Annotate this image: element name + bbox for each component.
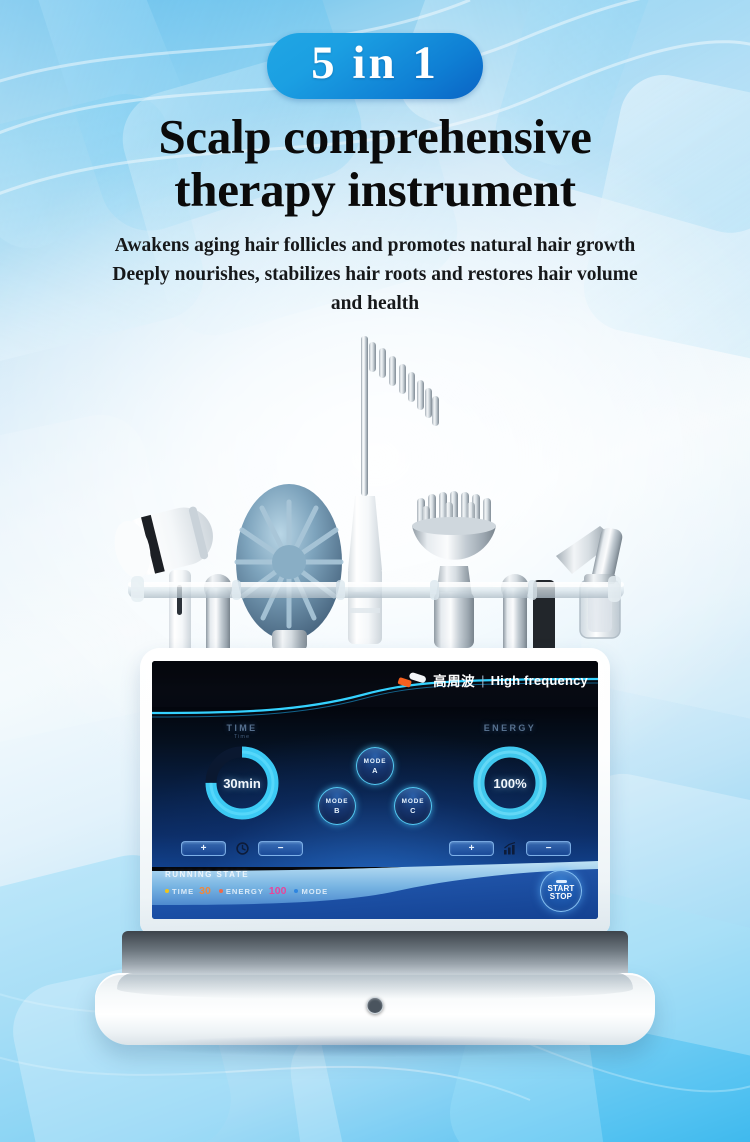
monitor-housing: MAIN WINDOW 高周波 | High frequency TIME Ti… (140, 648, 610, 935)
badge-label: 5 in 1 (311, 37, 439, 90)
stat-time-dot (165, 889, 169, 893)
running-state-stats: TIME 30 ENERGY 100 MODE (165, 885, 328, 897)
stat-mode: MODE (294, 887, 328, 896)
energy-adjust-row: + − (449, 841, 571, 856)
mode-button-group: MODE A MODE B MODE C (310, 747, 440, 831)
time-label: TIME (184, 723, 300, 733)
time-value: 30min (203, 744, 281, 822)
five-in-one-badge: 5 in 1 (267, 33, 483, 99)
time-dial[interactable]: 30min (203, 744, 281, 822)
energy-increase-button[interactable]: + (449, 841, 494, 856)
energy-dial[interactable]: 100% (471, 744, 549, 822)
power-indicator[interactable] (367, 997, 384, 1014)
micro-needle-bowl-head (412, 491, 496, 648)
signal-bars-glyph (503, 842, 517, 855)
time-sublabel: Time (184, 734, 300, 740)
signal-bars-icon (503, 842, 517, 856)
handpieces-illustration (0, 330, 750, 675)
headline-line-2: therapy instrument (0, 164, 750, 217)
stat-time-value: 30 (199, 885, 211, 897)
device-touchscreen[interactable]: MAIN WINDOW 高周波 | High frequency TIME Ti… (152, 661, 598, 919)
clock-icon (235, 842, 249, 856)
treatment-mode-chip: 高周波 | High frequency (397, 670, 588, 690)
stat-time-name: TIME (172, 887, 194, 896)
handpiece-icon (397, 672, 427, 688)
energy-label: ENERGY (452, 723, 568, 733)
mode-c-bottom-label: C (410, 806, 416, 815)
energy-sublabel (452, 734, 568, 740)
energy-value: 100% (471, 744, 549, 822)
stat-mode-name: MODE (301, 887, 328, 896)
stat-energy: ENERGY 100 (219, 885, 290, 897)
mode-a-button[interactable]: MODE A (356, 747, 394, 785)
clock-glyph (236, 842, 249, 855)
running-state-block: RUNNING STATE TIME 30 ENERGY 100 (165, 870, 328, 897)
stat-energy-value: 100 (269, 885, 287, 897)
led-photon-handpiece (109, 501, 219, 581)
stat-time: TIME 30 (165, 885, 214, 897)
stat-mode-dot (294, 889, 298, 893)
base-shadow-gap (122, 931, 628, 973)
header-block: 5 in 1 Scalp comprehensive therapy instr… (0, 0, 750, 318)
headline-line-1: Scalp comprehensive (158, 109, 591, 164)
machine-base-wrap (95, 931, 655, 1045)
mode-a-top-label: MODE (364, 758, 387, 765)
mode-a-bottom-label: A (372, 766, 378, 775)
energy-decrease-button[interactable]: − (526, 841, 571, 856)
stat-energy-dot (219, 889, 223, 893)
time-increase-button[interactable]: + (181, 841, 226, 856)
screen-footer-bar: RUNNING STATE TIME 30 ENERGY 100 (152, 861, 598, 919)
mode-chip-english: High frequency (491, 673, 588, 688)
time-adjust-row: + − (181, 841, 303, 856)
time-decrease-button[interactable]: − (258, 841, 303, 856)
page-title: Scalp comprehensive therapy instrument (0, 111, 750, 217)
dash-icon (556, 880, 567, 882)
mode-b-button[interactable]: MODE B (318, 787, 356, 825)
energy-control-group: ENERGY 100% (452, 723, 568, 822)
time-control-group: TIME Time 30min (184, 723, 300, 822)
mode-b-bottom-label: B (334, 806, 340, 815)
running-state-title: RUNNING STATE (165, 870, 328, 879)
stat-energy-name: ENERGY (226, 887, 264, 896)
mode-c-top-label: MODE (402, 798, 425, 805)
mode-chip-chinese: 高周波 (433, 670, 475, 690)
silicone-massage-brush (236, 484, 342, 650)
therapy-machine: MAIN WINDOW 高周波 | High frequency TIME Ti… (95, 648, 655, 1045)
base-drop-shadow (140, 1035, 610, 1057)
mode-c-button[interactable]: MODE C (394, 787, 432, 825)
mode-chip-separator: | (481, 673, 484, 688)
mode-b-top-label: MODE (326, 798, 349, 805)
accessory-handpieces (0, 330, 750, 675)
subtitle-text: Awakens aging hair follicles and promote… (0, 232, 750, 318)
start-stop-button[interactable]: START STOP (540, 870, 582, 912)
product-banner: 5 in 1 Scalp comprehensive therapy instr… (0, 0, 750, 1142)
stop-label: STOP (550, 893, 572, 901)
